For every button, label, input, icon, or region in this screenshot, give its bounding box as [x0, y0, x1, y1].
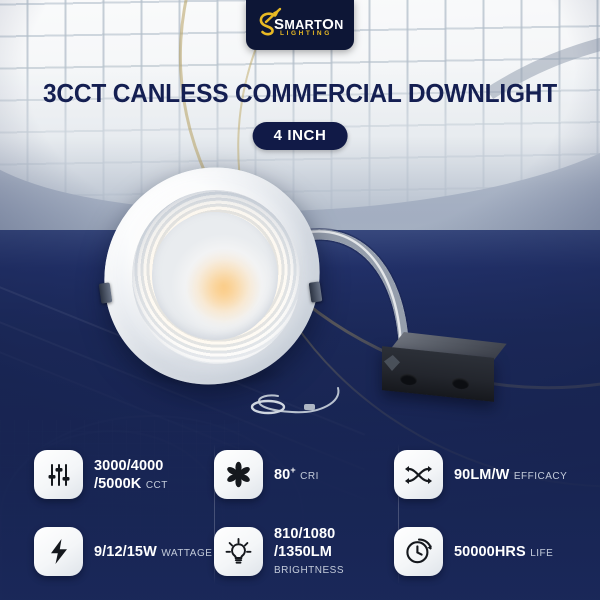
spec-label-cct: CCT: [146, 480, 168, 491]
spec-label-life: LIFE: [530, 548, 553, 559]
sliders-icon: [34, 450, 83, 499]
spec-label-wattage: WATTAGE: [161, 548, 212, 559]
specifications-panel: 3000/4000 /5000K CCT: [0, 424, 600, 600]
spec-grid: 3000/4000 /5000K CCT: [34, 436, 574, 590]
spec-item-efficacy: 90LM/W EFFICACY: [394, 436, 574, 513]
spec-item-wattage: 9/12/15W WATTAGE: [34, 513, 214, 590]
light-bulb-icon: [214, 527, 263, 576]
spec-value-cri-number: 80: [274, 467, 290, 483]
spec-item-life: 50000HRS LIFE: [394, 513, 574, 590]
asterisk-icon: [214, 450, 263, 499]
spec-label-cri: CRI: [300, 471, 319, 482]
spec-value-cri-sup: +: [290, 465, 295, 475]
spec-value-wattage: 9/12/15W: [94, 544, 157, 560]
spec-item-brightness: 810/1080 /1350LM BRIGHTNESS: [214, 513, 394, 590]
spec-label-brightness: BRIGHTNESS: [274, 565, 344, 576]
spec-value-life: 50000HRS: [454, 544, 526, 560]
shuffle-arrows-icon: [394, 450, 443, 499]
spec-item-cri: 80+ CRI: [214, 436, 394, 513]
spec-value-cri: 80+: [274, 467, 296, 483]
clock-arrow-icon: [394, 527, 443, 576]
product-poster: SMARTON LIGHTING 3CCT CANLESS COMMERCIAL…: [0, 0, 600, 600]
downlight-glow: [160, 226, 270, 334]
lightning-bolt-icon: [34, 527, 83, 576]
spec-label-efficacy: EFFICACY: [514, 471, 567, 482]
spec-item-cct: 3000/4000 /5000K CCT: [34, 436, 214, 513]
spec-value-efficacy: 90LM/W: [454, 467, 509, 483]
spec-value-brightness: 810/1080 /1350LM: [274, 526, 335, 560]
safety-cable: [246, 386, 342, 420]
